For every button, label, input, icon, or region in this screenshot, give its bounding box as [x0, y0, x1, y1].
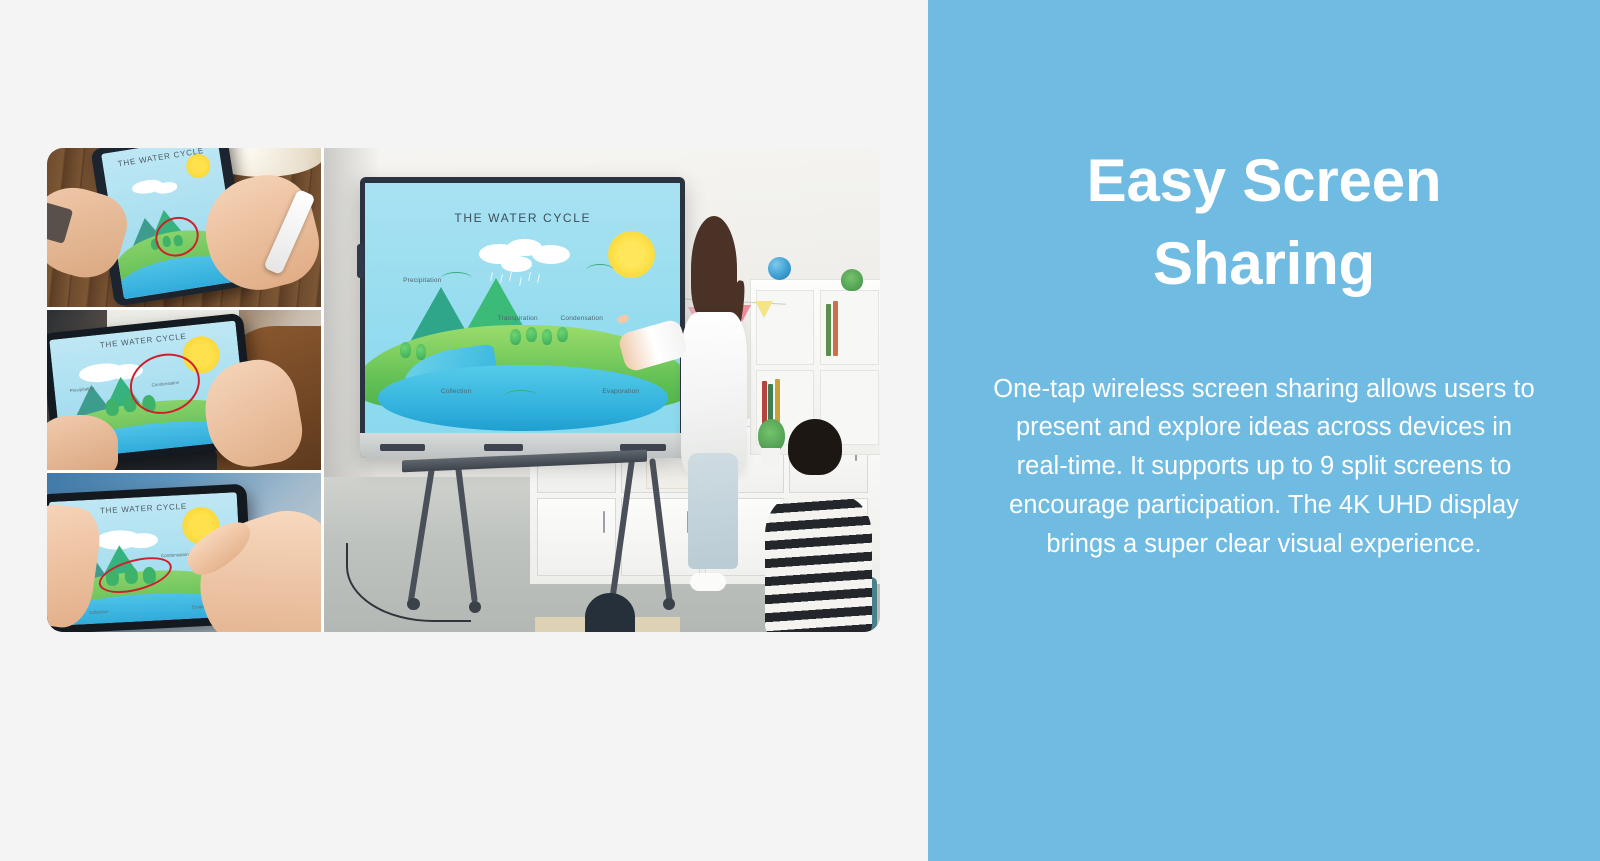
- label-condensation: Condensation: [561, 315, 604, 322]
- flow-arrow: [586, 264, 614, 277]
- left-hand: [47, 415, 118, 469]
- thumbnail-tablet-held[interactable]: THE WATER CYCLE: [47, 310, 321, 469]
- plant-icon: [841, 269, 863, 291]
- media-side: THE WATER CYCLE: [0, 0, 928, 861]
- student-figure: [758, 419, 875, 632]
- speaker-vent: [380, 444, 426, 451]
- interactive-display-board[interactable]: THE WATER CYCLE: [360, 177, 685, 458]
- tree-icon: [416, 344, 427, 360]
- text-panel: Easy Screen Sharing One-tap wireless scr…: [928, 0, 1600, 861]
- book: [833, 301, 838, 357]
- teacher-shoes: [690, 573, 726, 591]
- thumbnail-finger-pointing[interactable]: THE WATER CYCLE: [47, 473, 321, 632]
- thumbnail-column: THE WATER CYCLE: [47, 148, 321, 632]
- page-description: One-tap wireless screen sharing allows u…: [992, 370, 1537, 564]
- cloud-icon: [532, 245, 570, 264]
- label-transpiration: Transpiration: [498, 315, 538, 322]
- tree-icon: [104, 398, 119, 416]
- image-collage: THE WATER CYCLE: [47, 148, 880, 632]
- student-striped-shirt: [765, 496, 872, 632]
- label-condensation: Condensation: [160, 552, 188, 558]
- teacher-blouse: [681, 312, 747, 475]
- label-collection: Collection: [88, 609, 108, 615]
- tree-icon: [542, 329, 553, 345]
- label-collection: Collection: [441, 388, 472, 395]
- diagram-title: THE WATER CYCLE: [365, 211, 680, 225]
- water-cycle-diagram: THE WATER CYCLE: [365, 183, 680, 436]
- tree-icon: [510, 329, 521, 345]
- thumbnail-tablet-on-table[interactable]: THE WATER CYCLE: [47, 148, 321, 307]
- book: [826, 304, 831, 356]
- label-precipitation: Precipitation: [403, 277, 441, 284]
- page-title: Easy Screen Sharing: [1004, 140, 1524, 306]
- sun-icon: [608, 231, 655, 278]
- display-side-button[interactable]: [357, 244, 364, 278]
- tree-icon: [526, 327, 537, 343]
- speaker-vent: [484, 444, 523, 451]
- slide-root: THE WATER CYCLE: [0, 0, 1600, 861]
- cabinet-door: [537, 498, 616, 576]
- flow-arrow: [441, 272, 472, 285]
- student-head: [788, 419, 842, 475]
- globe-icon: [768, 257, 791, 280]
- tree-icon: [400, 342, 411, 358]
- teacher-figure: [669, 230, 758, 583]
- teacher-jeans: [688, 453, 738, 570]
- main-photo-classroom[interactable]: THE WATER CYCLE: [324, 148, 880, 632]
- display-screen: THE WATER CYCLE: [365, 183, 680, 436]
- label-evaporation: Evaporation: [602, 388, 639, 395]
- tree-icon: [557, 327, 568, 343]
- cloud-icon: [501, 256, 532, 272]
- cabinet-handle: [603, 511, 605, 533]
- classroom-scene: THE WATER CYCLE: [324, 148, 880, 632]
- sun-icon: [184, 153, 211, 180]
